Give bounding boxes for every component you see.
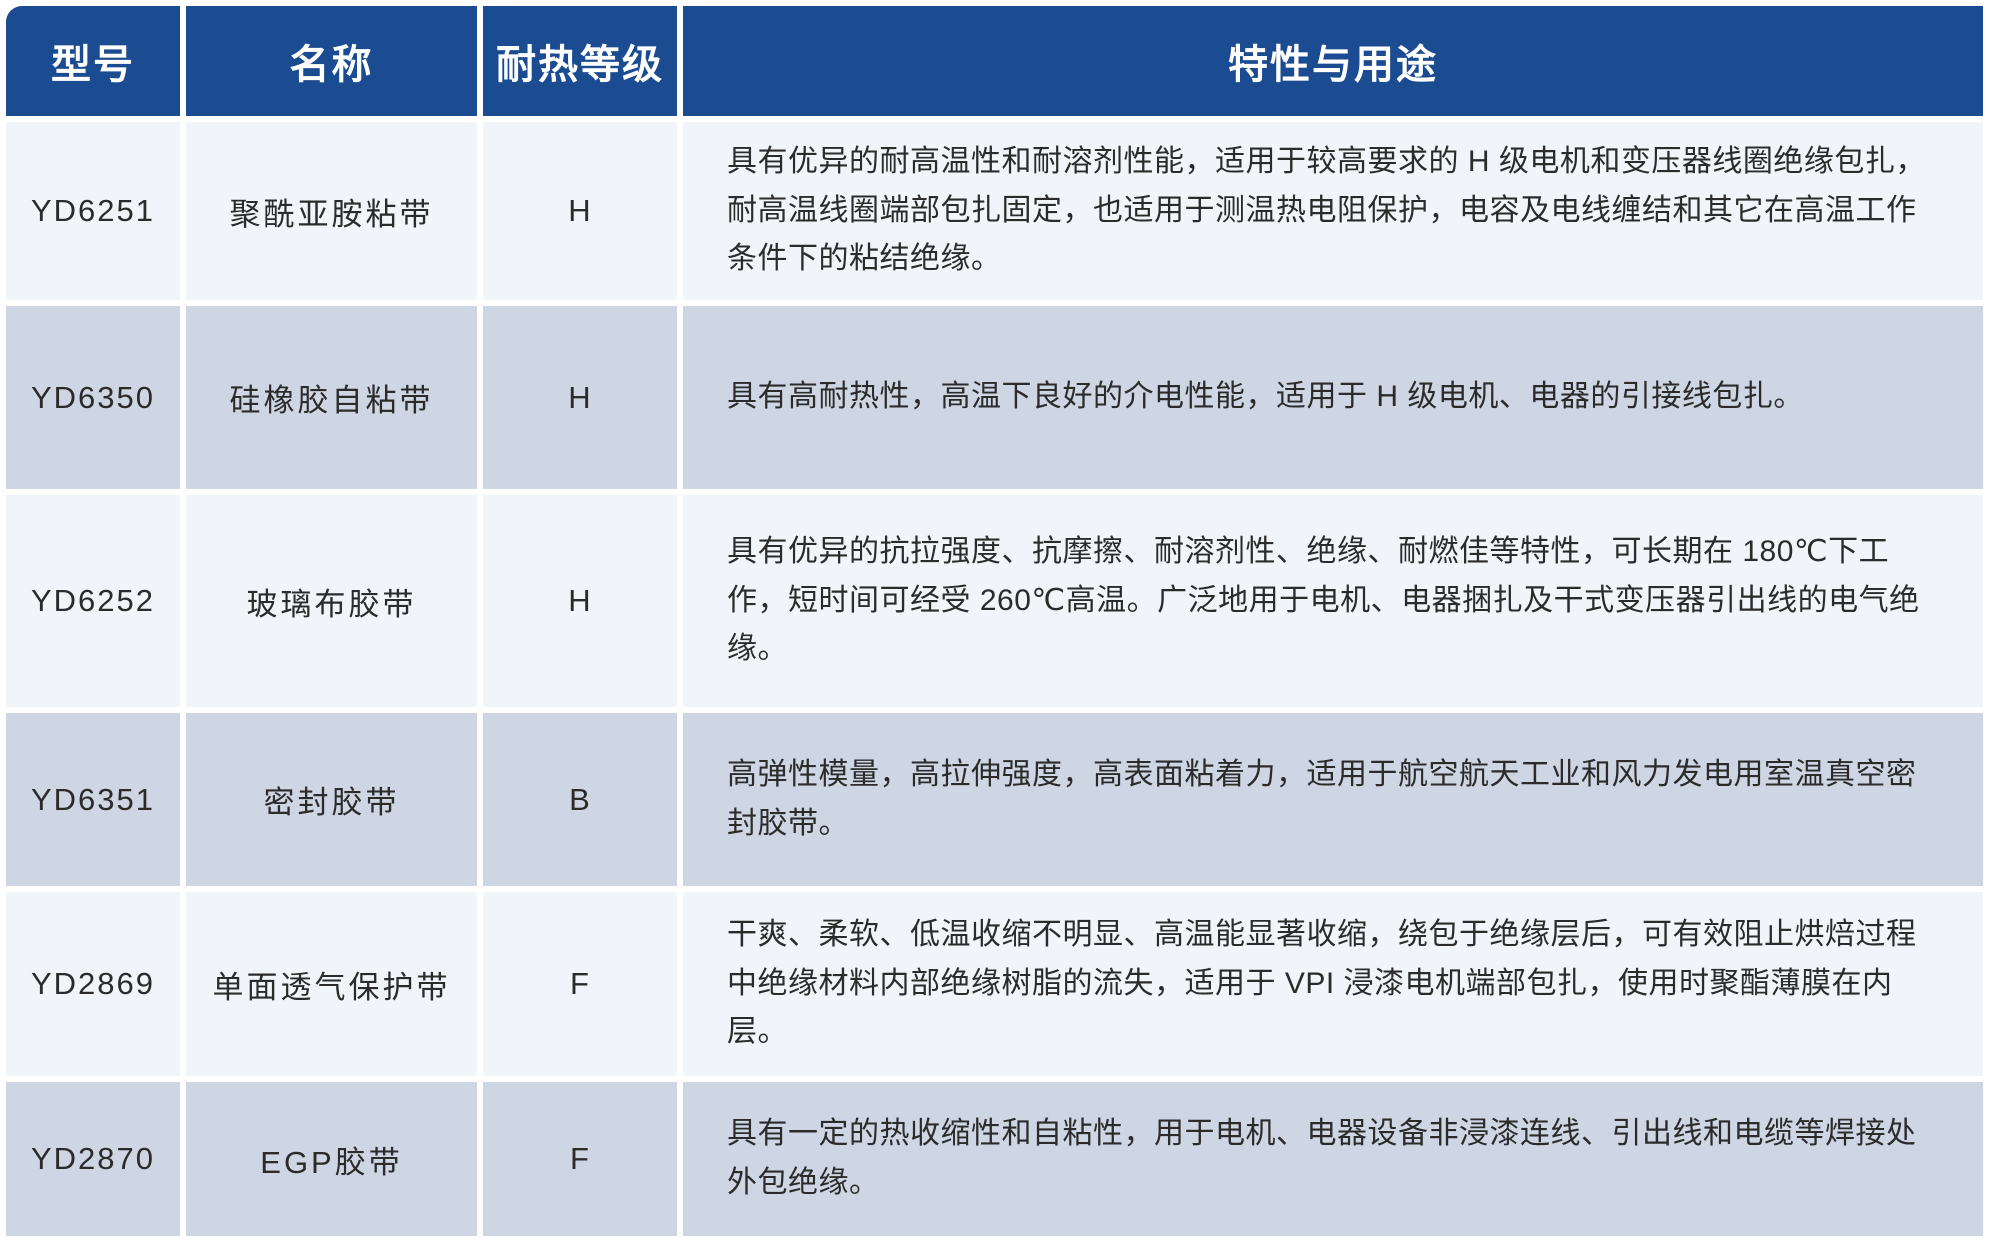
cell-model: YD2869 <box>6 892 180 1076</box>
cell-model: YD6351 <box>6 713 180 886</box>
table-header: 型号 名称 耐热等级 特性与用途 <box>6 6 1983 116</box>
cell-grade: H <box>483 495 677 707</box>
header-row: 型号 名称 耐热等级 特性与用途 <box>6 6 1983 116</box>
column-header-desc: 特性与用途 <box>683 6 1983 116</box>
table-row: YD2870 EGP胶带 F 具有一定的热收缩性和自粘性，用于电机、电器设备非浸… <box>6 1082 1983 1236</box>
cell-model: YD6252 <box>6 495 180 707</box>
product-spec-table: 型号 名称 耐热等级 特性与用途 YD6251 聚酰亚胺粘带 H 具有优异的耐高… <box>0 0 1989 1242</box>
cell-grade: F <box>483 1082 677 1236</box>
column-header-name: 名称 <box>186 6 477 116</box>
table-row: YD6251 聚酰亚胺粘带 H 具有优异的耐高温性和耐溶剂性能，适用于较高要求的… <box>6 122 1983 300</box>
cell-name: 密封胶带 <box>186 713 477 886</box>
cell-description: 干爽、柔软、低温收缩不明显、高温能显著收缩，绕包于绝缘层后，可有效阻止烘焙过程中… <box>683 892 1983 1076</box>
cell-name: 玻璃布胶带 <box>186 495 477 707</box>
cell-description: 具有一定的热收缩性和自粘性，用于电机、电器设备非浸漆连线、引出线和电缆等焊接处外… <box>683 1082 1983 1236</box>
cell-name: 单面透气保护带 <box>186 892 477 1076</box>
cell-description: 高弹性模量，高拉伸强度，高表面粘着力，适用于航空航天工业和风力发电用室温真空密封… <box>683 713 1983 886</box>
cell-name: 聚酰亚胺粘带 <box>186 122 477 300</box>
table-row: YD6350 硅橡胶自粘带 H 具有高耐热性，高温下良好的介电性能，适用于 H … <box>6 306 1983 489</box>
table-row: YD6351 密封胶带 B 高弹性模量，高拉伸强度，高表面粘着力，适用于航空航天… <box>6 713 1983 886</box>
cell-name: EGP胶带 <box>186 1082 477 1236</box>
cell-description: 具有高耐热性，高温下良好的介电性能，适用于 H 级电机、电器的引接线包扎。 <box>683 306 1983 489</box>
cell-description: 具有优异的耐高温性和耐溶剂性能，适用于较高要求的 H 级电机和变压器线圈绝缘包扎… <box>683 122 1983 300</box>
column-header-model: 型号 <box>6 6 180 116</box>
cell-name: 硅橡胶自粘带 <box>186 306 477 489</box>
cell-model: YD6350 <box>6 306 180 489</box>
cell-grade: H <box>483 306 677 489</box>
table-row: YD6252 玻璃布胶带 H 具有优异的抗拉强度、抗摩擦、耐溶剂性、绝缘、耐燃佳… <box>6 495 1983 707</box>
cell-grade: H <box>483 122 677 300</box>
table-body: YD6251 聚酰亚胺粘带 H 具有优异的耐高温性和耐溶剂性能，适用于较高要求的… <box>6 122 1983 1236</box>
cell-description: 具有优异的抗拉强度、抗摩擦、耐溶剂性、绝缘、耐燃佳等特性，可长期在 180℃下工… <box>683 495 1983 707</box>
cell-model: YD2870 <box>6 1082 180 1236</box>
table-row: YD2869 单面透气保护带 F 干爽、柔软、低温收缩不明显、高温能显著收缩，绕… <box>6 892 1983 1076</box>
column-header-grade: 耐热等级 <box>483 6 677 116</box>
cell-grade: B <box>483 713 677 886</box>
cell-grade: F <box>483 892 677 1076</box>
cell-model: YD6251 <box>6 122 180 300</box>
